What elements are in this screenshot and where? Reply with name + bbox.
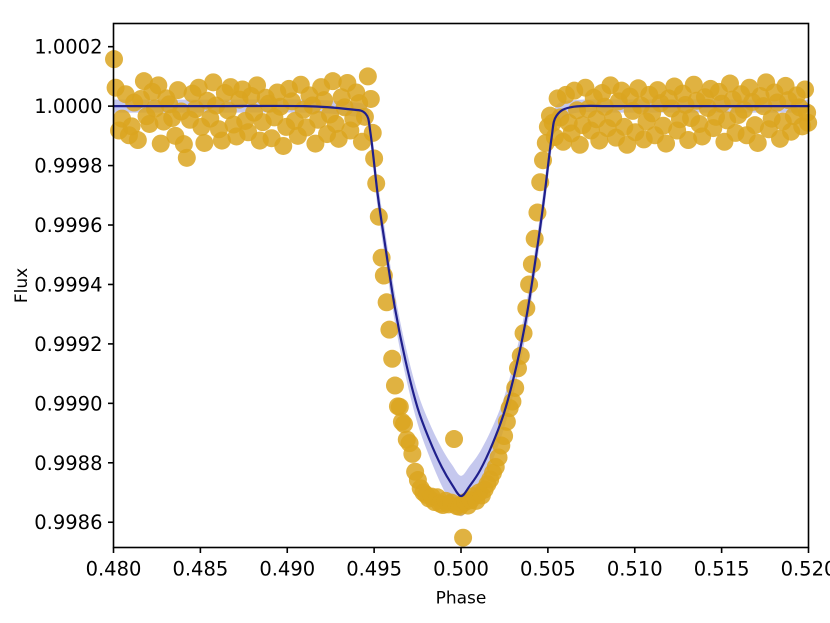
data-point xyxy=(445,430,463,448)
y-tick-label: 0.9992 xyxy=(34,333,102,356)
x-tick-label: 0.480 xyxy=(86,558,142,581)
x-tick-label: 0.520 xyxy=(781,558,830,581)
data-point xyxy=(526,230,544,248)
data-point xyxy=(129,131,147,149)
x-tick-label: 0.490 xyxy=(259,558,315,581)
data-point xyxy=(178,149,196,167)
data-point xyxy=(359,67,377,85)
transit-light-curve-plot: 0.4800.4850.4900.4950.5000.5050.5100.515… xyxy=(0,0,830,623)
data-point xyxy=(796,80,814,98)
x-tick-label: 0.505 xyxy=(520,558,576,581)
y-axis-ticks: 1.00021.00000.99980.99960.99940.99920.99… xyxy=(34,36,113,535)
y-tick-label: 0.9994 xyxy=(34,273,102,296)
y-axis-title: Flux xyxy=(12,268,32,303)
x-tick-label: 0.510 xyxy=(607,558,663,581)
y-tick-label: 0.9998 xyxy=(34,155,102,178)
y-tick-label: 0.9986 xyxy=(34,511,102,534)
data-point xyxy=(383,350,401,368)
data-point xyxy=(386,377,404,395)
x-tick-label: 0.495 xyxy=(346,558,402,581)
data-point xyxy=(195,134,213,152)
data-point xyxy=(520,275,538,293)
y-tick-label: 1.0000 xyxy=(34,95,102,118)
y-tick-label: 0.9996 xyxy=(34,214,102,237)
x-tick-label: 0.485 xyxy=(172,558,228,581)
y-tick-label: 0.9990 xyxy=(34,392,102,415)
data-point xyxy=(571,136,589,154)
figure-canvas: 0.4800.4850.4900.4950.5000.5050.5100.515… xyxy=(0,0,830,623)
data-point xyxy=(523,255,541,273)
data-point xyxy=(364,124,382,142)
x-tick-label: 0.515 xyxy=(694,558,750,581)
data-point xyxy=(274,137,292,155)
x-axis-title: Phase xyxy=(436,589,487,609)
data-point xyxy=(395,415,413,433)
data-point xyxy=(454,529,472,547)
data-point xyxy=(362,90,380,108)
x-tick-label: 0.500 xyxy=(433,558,489,581)
y-tick-label: 0.9988 xyxy=(34,452,102,475)
data-point xyxy=(403,445,421,463)
y-tick-label: 1.0002 xyxy=(34,36,102,59)
data-point xyxy=(380,321,398,339)
